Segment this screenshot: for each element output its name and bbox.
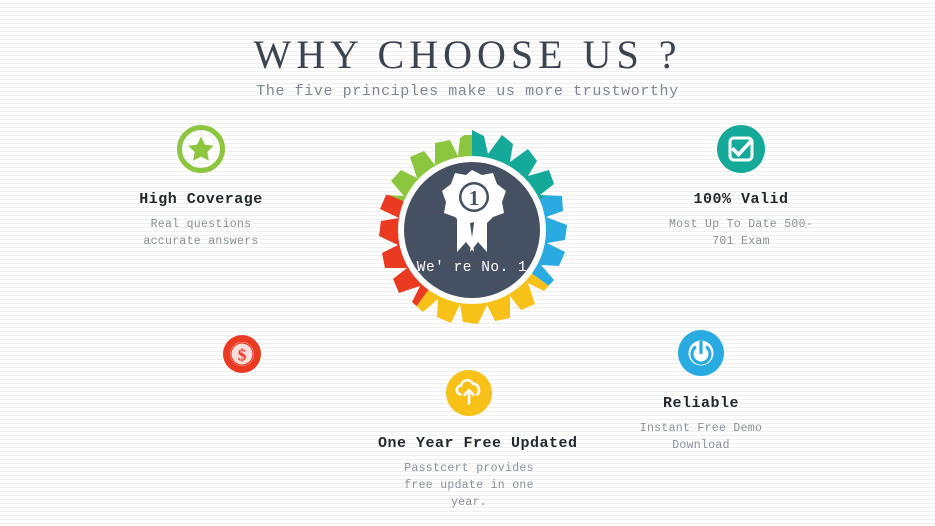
badge-number: 1: [469, 186, 480, 210]
feature-description: Most Up To Date 500- 701 Exam: [656, 216, 826, 250]
feature-title: High Coverage: [121, 190, 281, 210]
feature-description: Real questions accurate answers: [121, 216, 281, 250]
header: WHY CHOOSE US ? The five principles make…: [0, 32, 935, 102]
feature-title: 100% Valid: [656, 190, 826, 210]
icon-wrap: $: [202, 330, 282, 378]
feature-one-year-free-updated[interactable]: One Year Free Updated Passtcert provides…: [378, 366, 560, 511]
feature-valid[interactable]: 100% Valid Most Up To Date 500- 701 Exam: [656, 122, 826, 250]
page-subtitle: The five principles make us more trustwo…: [0, 82, 935, 102]
icon-wrap: [636, 326, 766, 380]
icon-wrap: [121, 122, 281, 176]
checkbox-circle-icon: [717, 125, 765, 173]
feature-title: Reliable: [636, 394, 766, 414]
feature-description: Instant Free Demo Download: [636, 420, 766, 454]
star-circle-icon: [177, 125, 225, 173]
feature-money-back[interactable]: $: [202, 330, 282, 392]
feature-description: Passtcert provides free update in one ye…: [378, 460, 560, 511]
cloud-upload-icon: [446, 370, 492, 416]
center-gear-graphic[interactable]: 1 We' re No. 1: [372, 130, 572, 330]
center-caption: We' re No. 1: [417, 260, 527, 276]
feature-title: One Year Free Updated: [378, 434, 560, 454]
gear-award-badge-icon: 1 We' re No. 1: [372, 130, 572, 330]
icon-wrap: [656, 122, 826, 176]
feature-reliable[interactable]: Reliable Instant Free Demo Download: [636, 326, 766, 454]
power-circle-icon: [678, 330, 724, 376]
icon-wrap: [378, 366, 560, 420]
slide-canvas: WHY CHOOSE US ? The five principles make…: [0, 0, 935, 526]
svg-text:$: $: [238, 346, 247, 365]
dollar-coin-icon: $: [223, 335, 261, 373]
page-title: WHY CHOOSE US ?: [0, 32, 935, 78]
feature-high-coverage[interactable]: High Coverage Real questions accurate an…: [121, 122, 281, 250]
